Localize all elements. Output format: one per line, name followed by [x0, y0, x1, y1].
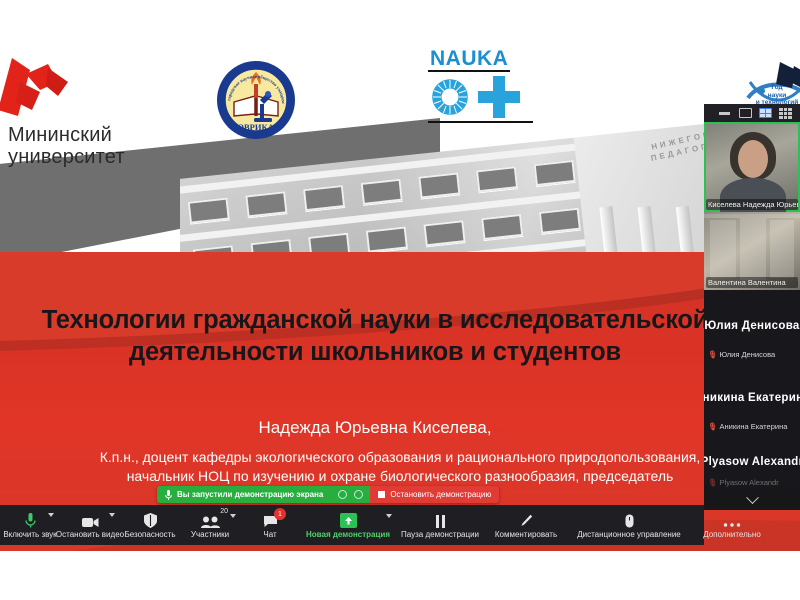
grid-view-icon[interactable] [779, 108, 792, 119]
toolbar-new-share-button[interactable]: Новая демонстрация [300, 505, 396, 545]
chevron-down-icon[interactable] [109, 513, 115, 517]
participant-name: 🎙Юлия Денисова [706, 349, 798, 360]
slide-header: НИЖЕГОРОДСКИЙ ПЕДАГОГИЧЕСКИЙ Мининский [0, 0, 800, 262]
annotate-icon[interactable] [354, 490, 363, 499]
zoom-participants-panel: Киселева Надежда Юрьевна Валентина Вален… [704, 104, 800, 510]
nauka-zero-plus-logo: NAUKA [428, 48, 536, 120]
evrika-emblem-icon: городское научное общество учащихся «ЭВР… [216, 60, 296, 140]
chevron-down-icon[interactable] [386, 514, 392, 518]
panel-view-toolbar [704, 104, 800, 122]
participant-tile-video-2[interactable]: Валентина Валентина [704, 212, 800, 290]
pause-icon [435, 512, 446, 528]
muted-microphone-icon: 🎙 [708, 478, 718, 487]
toolbar-label: Комментировать [495, 530, 557, 539]
participant-tile-avatar-1[interactable]: Юлия Денисова 🎙Юлия Денисова [704, 290, 800, 362]
god-line2: науки [748, 92, 800, 100]
god-line1: Год [748, 84, 800, 92]
toolbar-annotate-button[interactable]: Комментировать [484, 505, 568, 545]
toolbar-label: Пауза демонстрации [401, 530, 479, 539]
toolbar-label: Дополнительно [703, 530, 761, 539]
slide-title: Технологии гражданской науки в исследова… [30, 304, 720, 368]
mininsky-line2: университет [8, 146, 125, 168]
speaker-view-icon[interactable] [739, 108, 752, 118]
toolbar-mute-button[interactable]: Включить звук [0, 505, 60, 545]
mininsky-line1: Мининский [8, 124, 125, 146]
participant-name: Киселева Надежда Юрьевна [706, 199, 798, 210]
participant-tile-avatar-2[interactable]: Аникина Екатерина 🎙Аникина Екатерина [704, 362, 800, 434]
screen-share-notification-bar: Вы запустили демонстрацию экрана Останов… [157, 486, 499, 503]
muted-microphone-icon: 🎙 [708, 350, 718, 359]
microphone-icon [165, 490, 172, 500]
participant-name-text: Юлия Денисова [720, 350, 776, 359]
toolbar-participants-button[interactable]: 20 Участники [180, 505, 240, 545]
stop-square-icon [378, 491, 385, 498]
svg-text:«ЭВРИКА»: «ЭВРИКА» [234, 122, 278, 132]
slide-author: Надежда Юрьевна Киселева, [30, 417, 720, 439]
shared-slide: НИЖЕГОРОДСКИЙ ПЕДАГОГИЧЕСКИЙ Мининский [0, 0, 800, 551]
nauka-underline [428, 121, 533, 123]
screen: НИЖЕГОРОДСКИЙ ПЕДАГОГИЧЕСКИЙ Мининский [0, 0, 800, 600]
toolbar-label: Безопасность [124, 530, 175, 539]
minimize-icon[interactable] [719, 108, 732, 118]
participant-name: Валентина Валентина [706, 277, 798, 288]
ellipsis-icon [723, 512, 741, 528]
toolbar-label: Участники [191, 530, 229, 539]
toolbar-video-button[interactable]: Остановить видео [60, 505, 120, 545]
panel-scroll-down-button[interactable] [704, 490, 800, 510]
plus-sign-icon [478, 76, 520, 118]
nauka-wordmark: NAUKA [428, 48, 510, 72]
chevron-down-icon[interactable] [48, 513, 54, 517]
mininsky-university-logo: Мининский университет [0, 52, 175, 162]
toolbar-pause-share-button[interactable]: Пауза демонстрации [396, 505, 484, 545]
nauka-symbols [428, 75, 536, 119]
muted-microphone-icon: 🎙 [708, 422, 718, 431]
share-screen-icon [340, 512, 357, 528]
toolbar-label: Остановить видео [56, 530, 124, 539]
share-controls[interactable] [331, 486, 370, 503]
toolbar-chat-button[interactable]: 1 Чат [240, 505, 300, 545]
shield-icon [144, 512, 157, 528]
toolbar-label: Дистанционное управление [577, 530, 681, 539]
participant-name-text: Аникина Екатерина [720, 422, 788, 431]
toolbar-label: Чат [263, 530, 276, 539]
zoom-meeting-toolbar: Включить звук Остановить видео Безопасно… [0, 505, 704, 545]
pencil-icon [520, 512, 533, 528]
participant-initials: Plyasow Alexandr [704, 456, 800, 468]
participant-tile-avatar-3[interactable]: Plyasow Alexandr 🎙Plyasow Alexandr [704, 434, 800, 490]
participant-initials: Юлия Денисова [704, 320, 799, 332]
microphone-icon [25, 512, 36, 528]
participants-count: 20 [220, 508, 228, 515]
pause-circle-icon[interactable] [338, 490, 347, 499]
participants-icon [201, 512, 220, 528]
toolbar-label: Новая демонстрация [306, 530, 390, 539]
chevron-down-icon[interactable] [230, 514, 236, 518]
mininsky-mark-icon [0, 52, 76, 124]
participant-name: 🎙Plyasow Alexandr [706, 477, 798, 488]
mininsky-logo-text: Мининский университет [8, 124, 125, 168]
chevron-down-icon [746, 491, 759, 504]
toolbar-security-button[interactable]: Безопасность [120, 505, 180, 545]
toolbar-remote-control-button[interactable]: Дистанционное управление [568, 505, 690, 545]
share-status: Вы запустили демонстрацию экрана [157, 486, 331, 503]
chat-unread-badge: 1 [274, 508, 286, 520]
evrika-emblem: городское научное общество учащихся «ЭВР… [216, 60, 296, 140]
subtitle-line-2: начальник НОЦ по изучению и охране биоло… [20, 467, 780, 486]
participant-initials: Аникина Екатерина [704, 392, 800, 404]
participant-tile-video-1[interactable]: Киселева Надежда Юрьевна [704, 122, 800, 212]
share-status-text: Вы запустили демонстрацию экрана [177, 490, 323, 499]
toolbar-more-button[interactable]: Дополнительно [690, 505, 774, 545]
stop-share-button[interactable]: Остановить демонстрацию [370, 486, 499, 503]
participant-name: 🎙Аникина Екатерина [706, 421, 798, 432]
video-camera-icon [82, 512, 99, 528]
subtitle-line-1: К.п.н., доцент кафедры экологического об… [20, 448, 780, 467]
toolbar-label: Включить звук [3, 530, 56, 539]
gallery-view-icon[interactable] [759, 108, 772, 118]
participant-name-text: Plyasow Alexandr [720, 478, 779, 487]
sunburst-zero-icon [428, 75, 472, 119]
stop-share-label: Остановить демонстрацию [390, 490, 491, 499]
mouse-icon [625, 512, 634, 528]
